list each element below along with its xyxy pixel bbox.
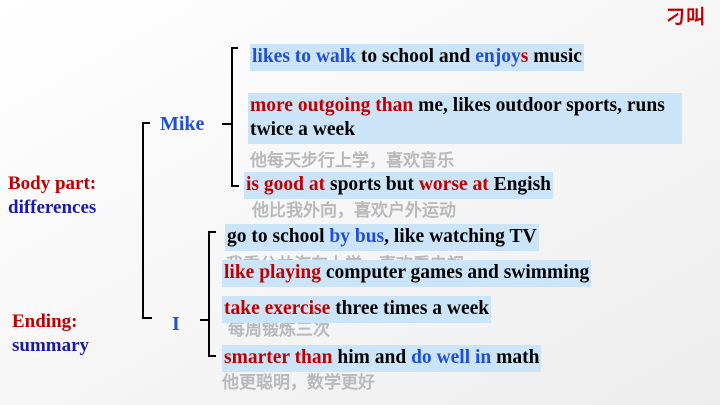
text-line-1: likes to walk to school and enjoys music xyxy=(250,44,584,71)
branch-label-mike: Mike xyxy=(160,113,204,136)
label-ending-line1: Ending: xyxy=(12,310,89,334)
text-line-3: is good at sports but worse at Engish xyxy=(244,172,553,199)
text-line-7: smarter than him and do well in math xyxy=(222,345,541,372)
text-line-5: like playing computer games and swimming xyxy=(222,260,591,287)
text-line-2: more outgoing than me, likes outdoor spo… xyxy=(248,93,682,144)
ghost-text-1: 他每天步行上学，喜欢音乐 xyxy=(250,146,454,171)
slide-canvas: 刁叫 他每天步行上学，喜欢音乐 他比我外向，喜欢户外运动 我乘公共汽车上学，喜欢… xyxy=(0,0,720,405)
corner-mark-text: 刁叫 xyxy=(666,2,706,29)
label-body-part: Body part: differences xyxy=(8,172,96,221)
label-body-part-line1: Body part: xyxy=(8,172,96,196)
branch-label-i: I xyxy=(172,313,180,336)
ghost-text-2: 他比我外向，喜欢户外运动 xyxy=(252,196,456,221)
label-ending: Ending: summary xyxy=(12,310,89,359)
text-line-4: go to school by bus, like watching TV xyxy=(225,224,539,251)
label-ending-line2: summary xyxy=(12,334,89,358)
label-body-part-line2: differences xyxy=(8,196,96,220)
text-line-6: take exercise three times a week xyxy=(222,296,491,323)
